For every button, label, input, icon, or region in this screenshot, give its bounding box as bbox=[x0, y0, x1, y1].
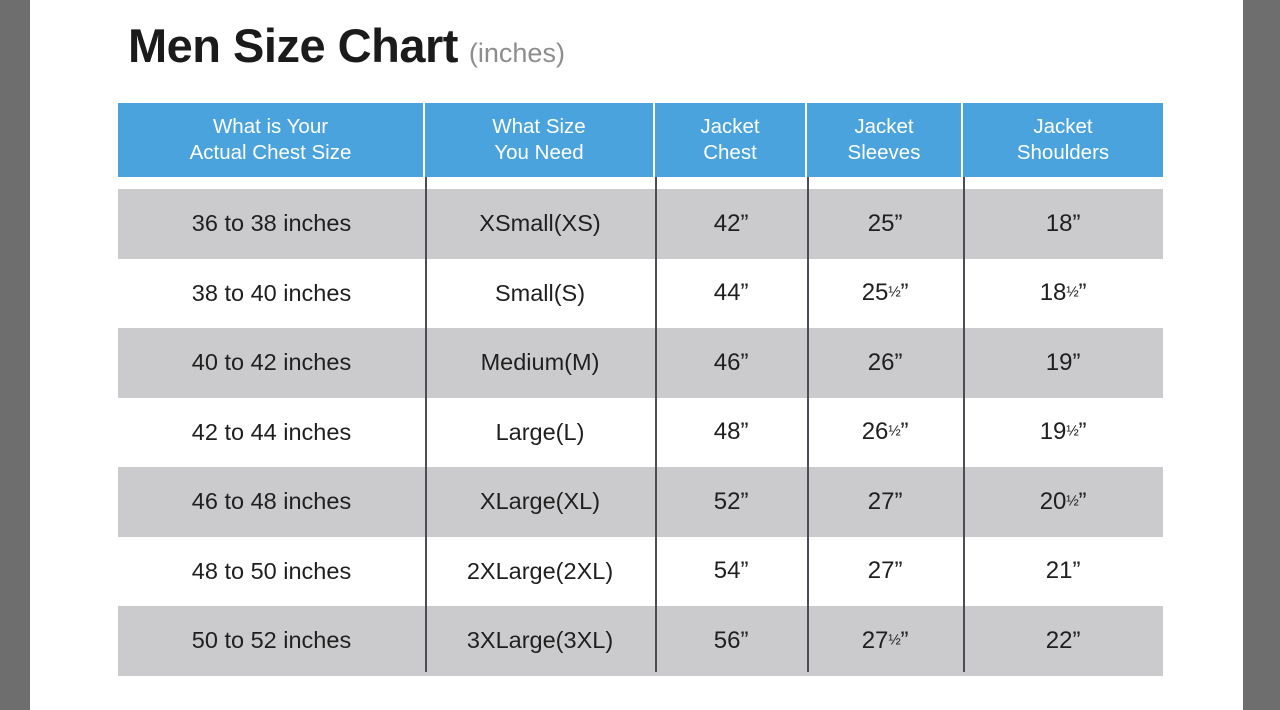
half-fraction-glyph: ½ bbox=[888, 632, 900, 648]
cell-jacket-shoulders: 19” bbox=[963, 328, 1163, 398]
column-header-jacket-chest: Jacket Chest bbox=[655, 103, 807, 177]
half-fraction-glyph: ½ bbox=[1066, 493, 1078, 509]
cell-jacket-shoulders: 18” bbox=[963, 189, 1163, 259]
cell-jacket-chest: 54” bbox=[655, 537, 807, 607]
cell-size-needed: XLarge(XL) bbox=[425, 467, 655, 537]
half-fraction-glyph: ½ bbox=[888, 285, 900, 301]
inch-mark-glyph: ” bbox=[740, 557, 748, 584]
cell-jacket-sleeves: 26½” bbox=[807, 398, 963, 468]
table-header-row: What is Your Actual Chest Size What Size… bbox=[118, 103, 1163, 177]
page-title-main: Men Size Chart bbox=[128, 22, 458, 69]
half-fraction-glyph: ½ bbox=[1066, 424, 1078, 440]
inch-mark-glyph: ” bbox=[740, 627, 748, 654]
size-chart-table: What is Your Actual Chest Size What Size… bbox=[118, 103, 1163, 676]
inch-mark-glyph: ” bbox=[901, 418, 909, 445]
inch-mark-glyph: ” bbox=[894, 210, 902, 237]
column-header-jacket-sleeves: Jacket Sleeves bbox=[807, 103, 963, 177]
letterbox-bar-right bbox=[1243, 0, 1280, 710]
table-row[interactable]: 50 to 52 inches3XLarge(3XL)56”27½”22” bbox=[118, 606, 1163, 676]
cell-chest-range: 50 to 52 inches bbox=[118, 606, 425, 676]
screenshot-stage: Men Size Chart (inches) What is Your Act… bbox=[0, 0, 1280, 710]
table-row[interactable]: 38 to 40 inchesSmall(S)44”25½”18½” bbox=[118, 259, 1163, 329]
cell-jacket-shoulders: 22” bbox=[963, 606, 1163, 676]
table-row[interactable]: 36 to 38 inchesXSmall(XS)42”25”18” bbox=[118, 189, 1163, 259]
column-header-actual-chest-size: What is Your Actual Chest Size bbox=[118, 103, 425, 177]
cell-jacket-chest: 56” bbox=[655, 606, 807, 676]
cell-chest-range: 46 to 48 inches bbox=[118, 467, 425, 537]
cell-jacket-chest: 44” bbox=[655, 259, 807, 329]
cell-jacket-sleeves: 27” bbox=[807, 537, 963, 607]
cell-jacket-chest: 46” bbox=[655, 328, 807, 398]
inch-mark-glyph: ” bbox=[740, 279, 748, 306]
half-fraction-glyph: ½ bbox=[888, 424, 900, 440]
size-chart-canvas: Men Size Chart (inches) What is Your Act… bbox=[30, 0, 1243, 710]
inch-mark-glyph: ” bbox=[1072, 349, 1080, 376]
inch-mark-glyph: ” bbox=[740, 349, 748, 376]
column-header-line1: Jacket bbox=[854, 114, 913, 140]
table-body: 36 to 38 inchesXSmall(XS)42”25”18”38 to … bbox=[118, 189, 1163, 676]
column-header-line1: What Size bbox=[492, 114, 585, 140]
column-header-line1: Jacket bbox=[700, 114, 759, 140]
cell-jacket-sleeves: 27½” bbox=[807, 606, 963, 676]
inch-mark-glyph: ” bbox=[1079, 279, 1087, 306]
cell-size-needed: Large(L) bbox=[425, 398, 655, 468]
cell-chest-range: 48 to 50 inches bbox=[118, 537, 425, 607]
cell-jacket-sleeves: 25” bbox=[807, 189, 963, 259]
cell-chest-range: 38 to 40 inches bbox=[118, 259, 425, 329]
inch-mark-glyph: ” bbox=[1072, 627, 1080, 654]
inch-mark-glyph: ” bbox=[740, 418, 748, 445]
column-header-jacket-shoulders: Jacket Shoulders bbox=[963, 103, 1163, 177]
inch-mark-glyph: ” bbox=[894, 488, 902, 515]
header-body-gap bbox=[118, 177, 1163, 189]
cell-chest-range: 42 to 44 inches bbox=[118, 398, 425, 468]
table-row[interactable]: 40 to 42 inchesMedium(M)46”26”19” bbox=[118, 328, 1163, 398]
cell-jacket-shoulders: 21” bbox=[963, 537, 1163, 607]
cell-chest-range: 36 to 38 inches bbox=[118, 189, 425, 259]
cell-jacket-chest: 52” bbox=[655, 467, 807, 537]
cell-size-needed: 3XLarge(3XL) bbox=[425, 606, 655, 676]
page-title-units: (inches) bbox=[469, 40, 565, 67]
inch-mark-glyph: ” bbox=[1079, 418, 1087, 445]
letterbox-bar-left bbox=[0, 0, 30, 710]
column-header-line1: Jacket bbox=[1033, 114, 1092, 140]
inch-mark-glyph: ” bbox=[1072, 210, 1080, 237]
table-row[interactable]: 48 to 50 inches2XLarge(2XL)54”27”21” bbox=[118, 537, 1163, 607]
inch-mark-glyph: ” bbox=[740, 210, 748, 237]
cell-jacket-sleeves: 27” bbox=[807, 467, 963, 537]
cell-size-needed: Small(S) bbox=[425, 259, 655, 329]
page-title: Men Size Chart (inches) bbox=[128, 22, 565, 69]
inch-mark-glyph: ” bbox=[901, 279, 909, 306]
inch-mark-glyph: ” bbox=[1079, 488, 1087, 515]
column-header-size-you-need: What Size You Need bbox=[425, 103, 655, 177]
inch-mark-glyph: ” bbox=[740, 488, 748, 515]
cell-jacket-shoulders: 19½” bbox=[963, 398, 1163, 468]
table-row[interactable]: 42 to 44 inchesLarge(L)48”26½”19½” bbox=[118, 398, 1163, 468]
column-header-line2: Sleeves bbox=[848, 140, 921, 166]
cell-jacket-chest: 48” bbox=[655, 398, 807, 468]
cell-jacket-chest: 42” bbox=[655, 189, 807, 259]
inch-mark-glyph: ” bbox=[894, 557, 902, 584]
cell-chest-range: 40 to 42 inches bbox=[118, 328, 425, 398]
cell-size-needed: XSmall(XS) bbox=[425, 189, 655, 259]
column-header-line2: You Need bbox=[494, 140, 583, 166]
cell-jacket-sleeves: 26” bbox=[807, 328, 963, 398]
inch-mark-glyph: ” bbox=[1072, 557, 1080, 584]
inch-mark-glyph: ” bbox=[894, 349, 902, 376]
cell-jacket-shoulders: 20½” bbox=[963, 467, 1163, 537]
column-header-line2: Chest bbox=[703, 140, 757, 166]
column-header-line2: Actual Chest Size bbox=[190, 140, 352, 166]
cell-jacket-sleeves: 25½” bbox=[807, 259, 963, 329]
half-fraction-glyph: ½ bbox=[1066, 285, 1078, 301]
cell-jacket-shoulders: 18½” bbox=[963, 259, 1163, 329]
table-row[interactable]: 46 to 48 inchesXLarge(XL)52”27”20½” bbox=[118, 467, 1163, 537]
column-header-line1: What is Your bbox=[213, 114, 328, 140]
cell-size-needed: Medium(M) bbox=[425, 328, 655, 398]
inch-mark-glyph: ” bbox=[901, 627, 909, 654]
column-header-line2: Shoulders bbox=[1017, 140, 1109, 166]
cell-size-needed: 2XLarge(2XL) bbox=[425, 537, 655, 607]
